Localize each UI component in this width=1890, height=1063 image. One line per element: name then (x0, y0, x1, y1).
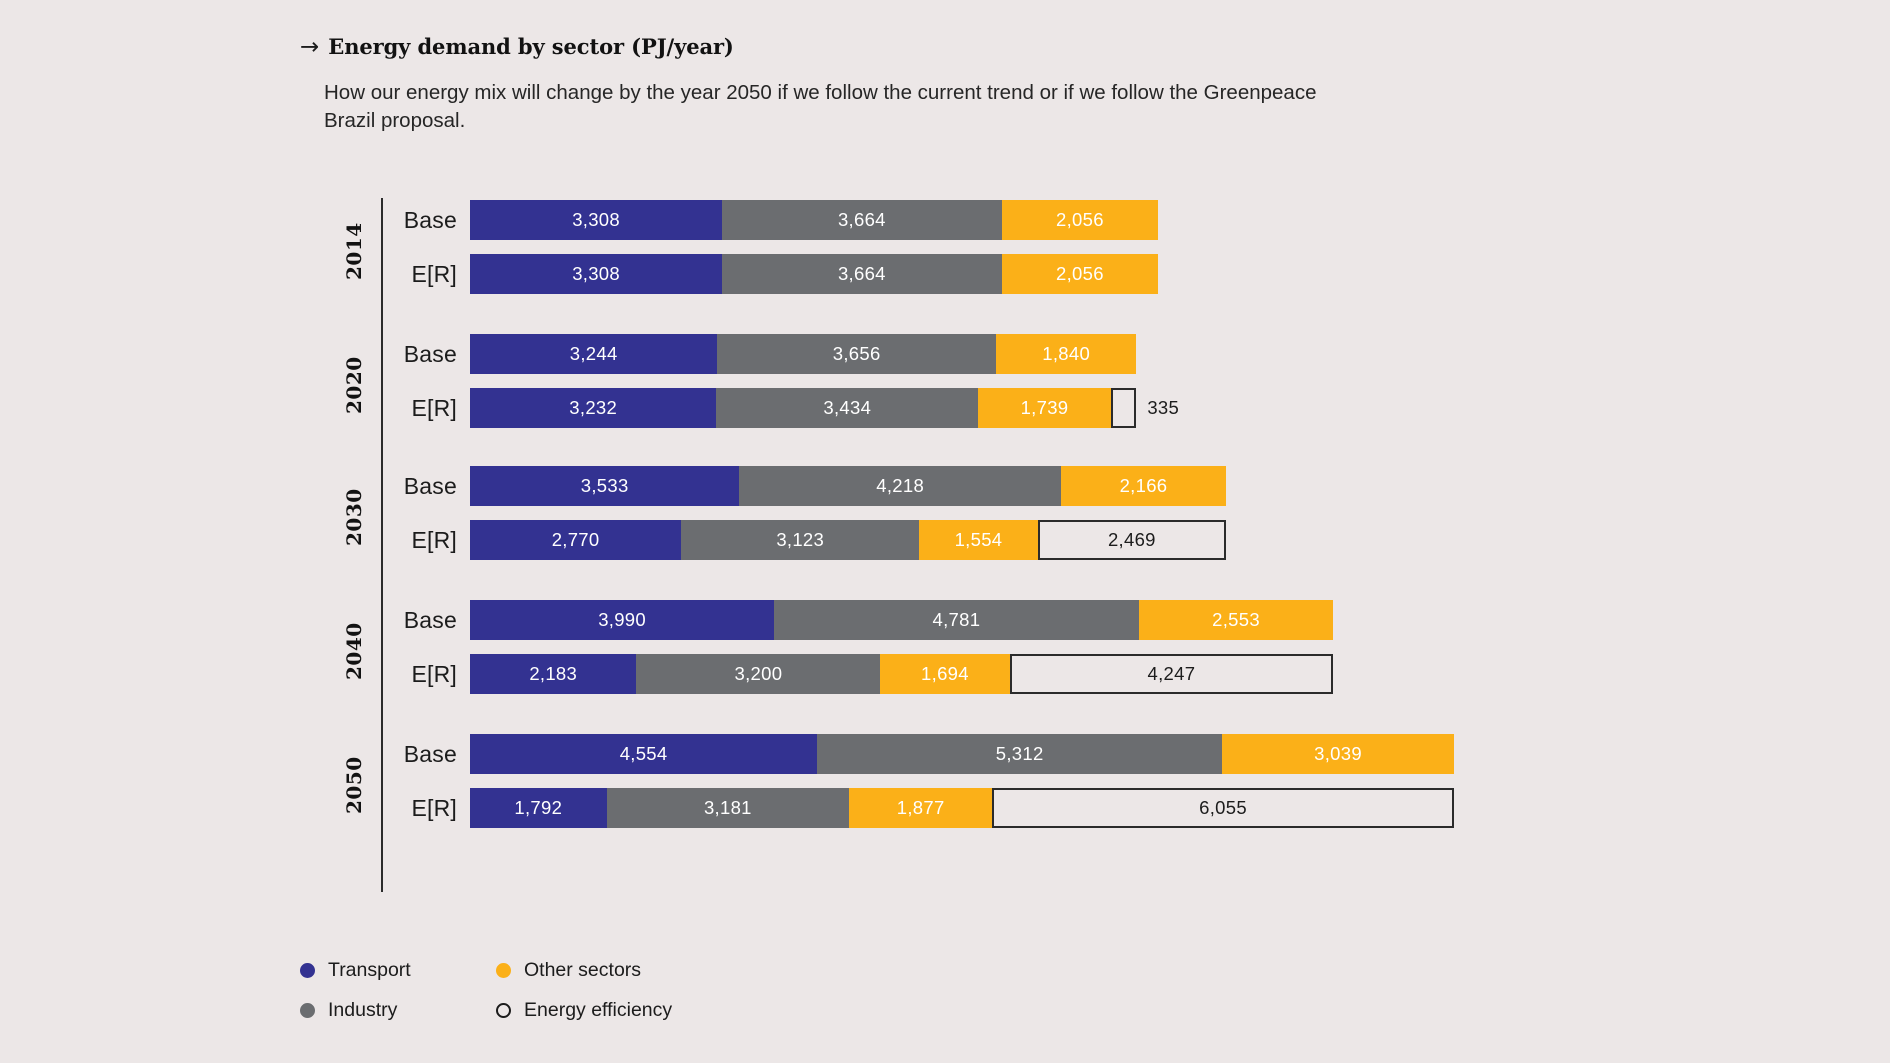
bar-segment-transport: 2,770 (470, 520, 681, 560)
bar-segment-transport: 4,554 (470, 734, 817, 774)
group-year-label: 2040 (342, 604, 366, 698)
bar-segment-other: 1,554 (919, 520, 1037, 560)
stacked-bar: 4,5545,3123,039 (470, 734, 1454, 774)
bar-value-label: 5,312 (996, 745, 1044, 764)
bar-segment-efficiency: 2,469 (1038, 520, 1226, 560)
bar-row: E[R]3,2323,4341,739335 (395, 388, 1136, 428)
bar-segment-other: 3,039 (1222, 734, 1454, 774)
bar-segment-efficiency: 4,247 (1010, 654, 1334, 694)
legend-swatch-transport-icon (300, 963, 315, 978)
bar-value-label: 3,123 (776, 531, 824, 550)
bar-row: E[R]2,7703,1231,5542,469 (395, 520, 1226, 560)
bar-value-label: 1,877 (897, 799, 945, 818)
bar-segment-transport: 3,232 (470, 388, 716, 428)
scenario-label: E[R] (395, 263, 457, 286)
bar-value-label: 1,792 (514, 799, 562, 818)
bar-row: Base3,9904,7812,553 (395, 600, 1333, 640)
bar-value-label: 2,056 (1056, 211, 1104, 230)
bar-value-label: 3,656 (833, 345, 881, 364)
bar-segment-industry: 5,312 (817, 734, 1222, 774)
bar-segment-industry: 3,434 (716, 388, 978, 428)
bar-segment-other: 1,840 (996, 334, 1136, 374)
bar-value-label: 1,739 (1021, 399, 1069, 418)
bar-value-label: 6,055 (1199, 799, 1247, 818)
stacked-bar: 3,3083,6642,056 (470, 254, 1158, 294)
bar-segment-transport: 1,792 (470, 788, 607, 828)
bar-segment-efficiency: 335 (1111, 388, 1137, 428)
legend-item-transport[interactable]: Transport (300, 959, 496, 982)
bar-row: Base4,5545,3123,039 (395, 734, 1454, 774)
y-axis-line (381, 198, 383, 892)
legend-item-industry[interactable]: Industry (300, 999, 496, 1022)
bar-segment-industry: 3,200 (636, 654, 880, 694)
bar-value-label: 3,664 (838, 211, 886, 230)
bar-segment-transport: 3,990 (470, 600, 774, 640)
bar-value-label: 3,308 (572, 211, 620, 230)
plot-area: 2014Base3,3083,6642,056E[R]3,3083,6642,0… (0, 0, 1890, 1063)
bar-value-label: 3,664 (838, 265, 886, 284)
bar-value-label: 2,183 (529, 665, 577, 684)
bar-segment-industry: 3,664 (722, 200, 1001, 240)
bar-segment-industry: 4,781 (774, 600, 1139, 640)
bar-segment-transport: 3,244 (470, 334, 717, 374)
bar-row: Base3,5334,2182,166 (395, 466, 1226, 506)
legend-item-other[interactable]: Other sectors (496, 959, 672, 982)
scenario-label: Base (395, 209, 457, 232)
stacked-bar: 3,3083,6642,056 (470, 200, 1158, 240)
scenario-label: E[R] (395, 397, 457, 420)
bar-value-label: 2,166 (1120, 477, 1168, 496)
bar-segment-other: 2,166 (1061, 466, 1226, 506)
bar-value-label: 1,694 (921, 665, 969, 684)
bar-segment-other: 2,553 (1139, 600, 1334, 640)
legend-label: Energy efficiency (524, 999, 672, 1022)
bar-value-label: 4,554 (620, 745, 668, 764)
bar-value-label: 3,533 (581, 477, 629, 496)
bar-value-label: 335 (1147, 399, 1179, 418)
bar-row: E[R]2,1833,2001,6944,247 (395, 654, 1333, 694)
legend-label: Industry (328, 999, 397, 1022)
stacked-bar: 2,1833,2001,6944,247 (470, 654, 1333, 694)
stacked-bar: 3,2323,4341,739335 (470, 388, 1136, 428)
bar-segment-other: 2,056 (1002, 254, 1159, 294)
legend-swatch-other-icon (496, 963, 511, 978)
bar-row: E[R]3,3083,6642,056 (395, 254, 1158, 294)
bar-value-label: 2,056 (1056, 265, 1104, 284)
stacked-bar: 3,2443,6561,840 (470, 334, 1136, 374)
bar-value-label: 2,770 (552, 531, 600, 550)
bar-segment-other: 1,877 (849, 788, 992, 828)
scenario-label: E[R] (395, 797, 457, 820)
bar-value-label: 4,218 (876, 477, 924, 496)
legend-swatch-efficiency-icon (496, 1003, 511, 1018)
bar-value-label: 3,232 (569, 399, 617, 418)
bar-value-label: 3,039 (1314, 745, 1362, 764)
bar-segment-transport: 3,533 (470, 466, 739, 506)
bar-segment-industry: 4,218 (739, 466, 1061, 506)
bar-segment-other: 1,694 (880, 654, 1009, 694)
scenario-label: Base (395, 609, 457, 632)
bar-value-label: 4,247 (1148, 665, 1196, 684)
bar-row: Base3,3083,6642,056 (395, 200, 1158, 240)
group-year-label: 2014 (342, 204, 366, 298)
bar-value-label: 3,181 (704, 799, 752, 818)
bar-segment-other: 1,739 (978, 388, 1111, 428)
stacked-bar: 3,9904,7812,553 (470, 600, 1333, 640)
scenario-label: Base (395, 343, 457, 366)
group-year-label: 2020 (342, 338, 366, 432)
stacked-bar: 3,5334,2182,166 (470, 466, 1226, 506)
bar-segment-industry: 3,123 (681, 520, 919, 560)
bar-segment-industry: 3,656 (717, 334, 996, 374)
energy-demand-chart: → Energy demand by sector (PJ/year) How … (0, 0, 1890, 1063)
bar-value-label: 2,469 (1108, 531, 1156, 550)
bar-value-label: 1,554 (955, 531, 1003, 550)
bar-value-label: 3,308 (572, 265, 620, 284)
scenario-label: E[R] (395, 663, 457, 686)
bar-value-label: 4,781 (933, 611, 981, 630)
bar-value-label: 3,990 (598, 611, 646, 630)
legend-label: Other sectors (524, 959, 641, 982)
bar-segment-other: 2,056 (1002, 200, 1159, 240)
legend-item-efficiency[interactable]: Energy efficiency (496, 999, 672, 1022)
chart-legend: TransportOther sectorsIndustryEnergy eff… (300, 950, 672, 1030)
group-year-label: 2030 (342, 470, 366, 564)
bar-segment-transport: 3,308 (470, 254, 722, 294)
scenario-label: Base (395, 743, 457, 766)
stacked-bar: 2,7703,1231,5542,469 (470, 520, 1226, 560)
bar-row: E[R]1,7923,1811,8776,055 (395, 788, 1454, 828)
scenario-label: Base (395, 475, 457, 498)
bar-value-label: 3,244 (570, 345, 618, 364)
bar-value-label: 3,200 (735, 665, 783, 684)
stacked-bar: 1,7923,1811,8776,055 (470, 788, 1454, 828)
scenario-label: E[R] (395, 529, 457, 552)
bar-value-label: 1,840 (1042, 345, 1090, 364)
group-year-label: 2050 (342, 738, 366, 832)
bar-segment-industry: 3,664 (722, 254, 1001, 294)
bar-segment-industry: 3,181 (607, 788, 850, 828)
bar-segment-transport: 2,183 (470, 654, 636, 694)
legend-label: Transport (328, 959, 411, 982)
bar-value-label: 3,434 (823, 399, 871, 418)
bar-segment-transport: 3,308 (470, 200, 722, 240)
bar-value-label: 2,553 (1212, 611, 1260, 630)
bar-row: Base3,2443,6561,840 (395, 334, 1136, 374)
legend-swatch-industry-icon (300, 1003, 315, 1018)
bar-segment-efficiency: 6,055 (992, 788, 1454, 828)
